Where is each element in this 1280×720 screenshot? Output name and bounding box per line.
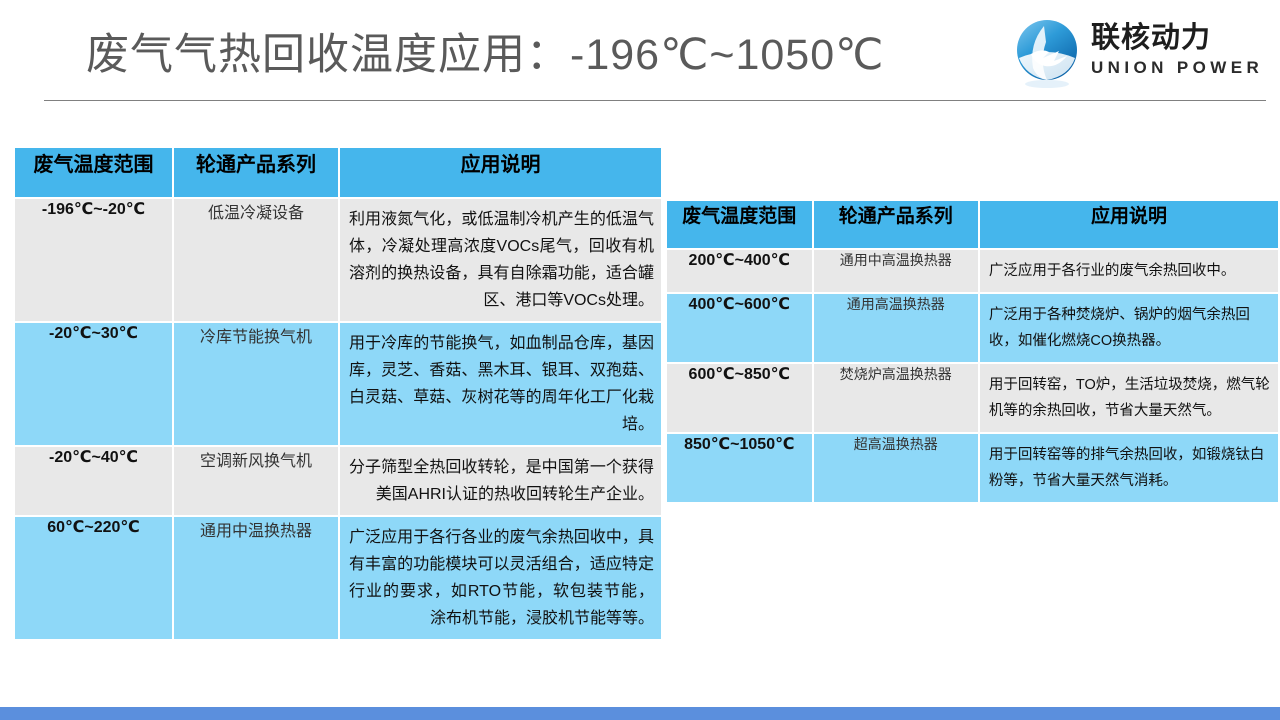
low-temperature-application-table: 废气温度范围 轮通产品系列 应用说明 -196℃~-20℃ 低温冷凝设备 利用液…	[13, 146, 663, 641]
logo-name-en: UNION POWER	[1091, 57, 1271, 79]
cell-application-note: 广泛应用于各行各业的废气余热回收中，具有丰富的功能模块可以灵活组合，适应特定行业…	[340, 517, 661, 639]
cell-product-series: 通用高温换热器	[814, 294, 978, 362]
cell-product-series: 通用中温换热器	[174, 517, 338, 639]
cell-product-series: 焚烧炉高温换热器	[814, 364, 978, 432]
table-row: 600℃~850℃ 焚烧炉高温换热器 用于回转窑，TO炉，生活垃圾焚烧，燃气轮机…	[667, 364, 1278, 432]
logo-wordmark: 联核动力 UNION POWER	[1091, 22, 1271, 79]
cell-temperature-range: 400℃~600℃	[667, 294, 812, 362]
cell-temperature-range: 850℃~1050℃	[667, 434, 812, 502]
column-header-product-series: 轮通产品系列	[814, 201, 978, 248]
table-header-row: 废气温度范围 轮通产品系列 应用说明	[15, 148, 661, 197]
cell-application-note: 利用液氮气化，或低温制冷机产生的低温气体，冷凝处理高浓度VOCs尾气，回收有机溶…	[340, 199, 661, 321]
cell-application-note: 广泛应用于各行业的废气余热回收中。	[980, 250, 1278, 292]
cell-temperature-range: 200℃~400℃	[667, 250, 812, 292]
cell-temperature-range: -20℃~40℃	[15, 447, 172, 515]
column-header-product-series: 轮通产品系列	[174, 148, 338, 197]
union-power-globe-swoosh-icon	[1013, 18, 1083, 88]
cell-temperature-range: 600℃~850℃	[667, 364, 812, 432]
company-logo: 联核动力 UNION POWER	[1013, 16, 1268, 90]
cell-temperature-range: -196℃~-20℃	[15, 199, 172, 321]
cell-application-note: 分子筛型全热回收转轮，是中国第一个获得美国AHRI认证的热收回转轮生产企业。	[340, 447, 661, 515]
cell-product-series: 冷库节能换气机	[174, 323, 338, 445]
table-row: -196℃~-20℃ 低温冷凝设备 利用液氮气化，或低温制冷机产生的低温气体，冷…	[15, 199, 661, 321]
column-header-application-note: 应用说明	[340, 148, 661, 197]
high-temperature-application-table: 废气温度范围 轮通产品系列 应用说明 200℃~400℃ 通用中高温换热器 广泛…	[665, 199, 1280, 504]
column-header-temperature-range: 废气温度范围	[15, 148, 172, 197]
cell-temperature-range: 60℃~220℃	[15, 517, 172, 639]
page-title: 废气气热回收温度应用：-196℃~1050℃	[86, 26, 884, 84]
column-header-temperature-range: 废气温度范围	[667, 201, 812, 248]
cell-application-note: 广泛用于各种焚烧炉、锅炉的烟气余热回收，如催化燃烧CO换热器。	[980, 294, 1278, 362]
header-divider	[44, 100, 1266, 101]
cell-application-note: 用于回转窑等的排气余热回收，如锻烧钛白粉等，节省大量天然气消耗。	[980, 434, 1278, 502]
cell-temperature-range: -20℃~30℃	[15, 323, 172, 445]
table-row: 60℃~220℃ 通用中温换热器 广泛应用于各行各业的废气余热回收中，具有丰富的…	[15, 517, 661, 639]
footer-accent-bar	[0, 707, 1280, 720]
cell-application-note: 用于冷库的节能换气，如血制品仓库，基因库，灵芝、香菇、黑木耳、银耳、双孢菇、白灵…	[340, 323, 661, 445]
table-row: 400℃~600℃ 通用高温换热器 广泛用于各种焚烧炉、锅炉的烟气余热回收，如催…	[667, 294, 1278, 362]
table-row: -20℃~40℃ 空调新风换气机 分子筛型全热回收转轮，是中国第一个获得美国AH…	[15, 447, 661, 515]
table-row: -20℃~30℃ 冷库节能换气机 用于冷库的节能换气，如血制品仓库，基因库，灵芝…	[15, 323, 661, 445]
cell-product-series: 空调新风换气机	[174, 447, 338, 515]
cell-product-series: 通用中高温换热器	[814, 250, 978, 292]
table-row: 200℃~400℃ 通用中高温换热器 广泛应用于各行业的废气余热回收中。	[667, 250, 1278, 292]
logo-name-cn: 联核动力	[1091, 22, 1271, 55]
cell-application-note: 用于回转窑，TO炉，生活垃圾焚烧，燃气轮机等的余热回收，节省大量天然气。	[980, 364, 1278, 432]
cell-product-series: 超高温换热器	[814, 434, 978, 502]
cell-product-series: 低温冷凝设备	[174, 199, 338, 321]
table-header-row: 废气温度范围 轮通产品系列 应用说明	[667, 201, 1278, 248]
table-row: 850℃~1050℃ 超高温换热器 用于回转窑等的排气余热回收，如锻烧钛白粉等，…	[667, 434, 1278, 502]
column-header-application-note: 应用说明	[980, 201, 1278, 248]
